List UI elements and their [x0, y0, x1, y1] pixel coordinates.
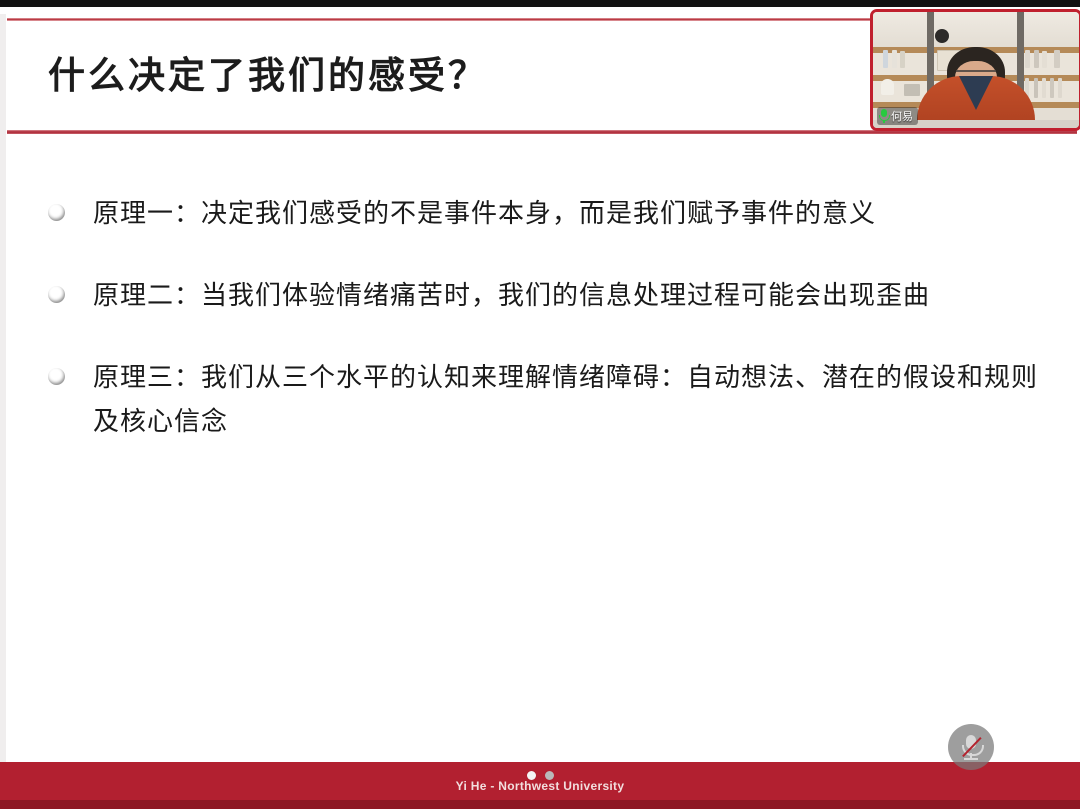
list-item: 原理三：我们从三个水平的认知来理解情绪障碍：自动想法、潜在的假设和规则及核心信念: [48, 356, 1048, 444]
book: [1034, 78, 1038, 98]
book: [1025, 50, 1030, 68]
footer-credit-text: Yi He - Northwest University: [0, 779, 1080, 793]
book: [1042, 78, 1046, 98]
slide-footer-band-shadow: [0, 800, 1080, 809]
book: [1034, 50, 1039, 68]
bullet-text: 原理一：决定我们感受的不是事件本身，而是我们赋予事件的意义: [93, 192, 1048, 236]
meeting-screen-share-view: 什么决定了我们的感受？ 原理一：决定我们感受的不是事件本身，而是我们赋予事件的意…: [0, 0, 1080, 809]
slide-title: 什么决定了我们的感受？: [48, 45, 488, 99]
book: [892, 50, 897, 68]
participant-video-tile[interactable]: 何易: [870, 9, 1080, 131]
window-top-chrome: [0, 0, 1080, 7]
slide-left-gutter: [0, 14, 6, 769]
bullet-sphere-icon: [48, 368, 65, 385]
bullet-sphere-icon: [48, 204, 65, 221]
book: [1054, 50, 1060, 68]
book: [1042, 51, 1047, 68]
room-wall: [873, 12, 1079, 47]
microphone-muted-icon: [961, 734, 981, 760]
shelf-object: [904, 84, 920, 96]
book: [1050, 78, 1054, 98]
participant-name: 何易: [891, 108, 913, 124]
book: [883, 50, 888, 68]
book: [1058, 78, 1062, 98]
mute-toggle-button[interactable]: [948, 724, 994, 770]
microphone-on-icon: [879, 109, 888, 123]
bullet-text: 原理三：我们从三个水平的认知来理解情绪障碍：自动想法、潜在的假设和规则及核心信念: [93, 356, 1048, 444]
book: [900, 51, 905, 68]
bullet-text: 原理二：当我们体验情绪痛苦时，我们的信息处理过程可能会出现歪曲: [93, 274, 1048, 318]
bullet-list: 原理一：决定我们感受的不是事件本身，而是我们赋予事件的意义 原理二：当我们体验情…: [48, 192, 1048, 482]
list-item: 原理二：当我们体验情绪痛苦时，我们的信息处理过程可能会出现歪曲: [48, 274, 1048, 318]
list-item: 原理一：决定我们感受的不是事件本身，而是我们赋予事件的意义: [48, 192, 1048, 236]
bullet-sphere-icon: [48, 286, 65, 303]
participant-name-badge: 何易: [877, 107, 918, 125]
vase: [881, 79, 894, 95]
